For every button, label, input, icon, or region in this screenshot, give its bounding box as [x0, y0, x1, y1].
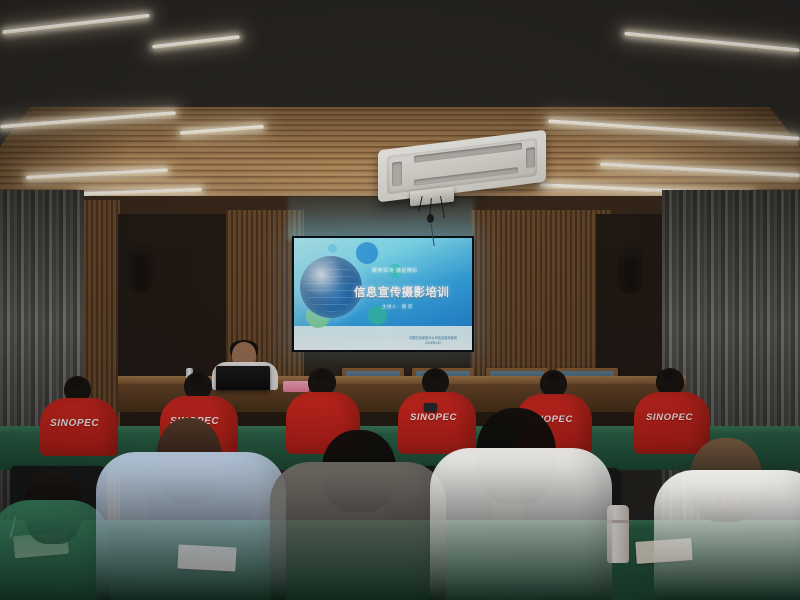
- projection-screen: 聚焦现场 捕捉精彩 信息宣传摄影培训 主讲人：摄 影 中国石化某某分公司信息宣传…: [292, 236, 474, 352]
- slide-bubble-6: [328, 244, 337, 253]
- conference-room-photo: 聚焦现场 捕捉精彩 信息宣传摄影培训 主讲人：摄 影 中国石化某某分公司信息宣传…: [0, 0, 800, 600]
- audience-torso-front-4: [430, 448, 612, 600]
- audience-torso-back-6: [634, 392, 710, 454]
- globe-icon: [300, 256, 362, 318]
- led-strip-2: [152, 35, 240, 49]
- audience-torso-front-5: [654, 470, 800, 600]
- slide-subtitle: 主讲人：摄 影: [382, 304, 462, 310]
- presentation-slide: 聚焦现场 捕捉精彩 信息宣传摄影培训 主讲人：摄 影 中国石化某某分公司信息宣传…: [294, 238, 472, 350]
- led-strip-1: [2, 14, 150, 35]
- wall-speaker-right: [621, 250, 640, 290]
- ac-vent-right: [526, 147, 535, 168]
- audience-hair-bun-back-6: [663, 370, 676, 381]
- sinopec-logo-text-6: SINOPEC: [646, 412, 693, 423]
- phone-camera: [424, 403, 437, 412]
- audience-torso-front-3: [270, 462, 446, 600]
- wall-panel-left: [118, 214, 228, 394]
- audience-torso-front-1: [0, 500, 110, 600]
- led-strip-3: [624, 32, 800, 53]
- slide-kicker-text: 聚焦现场 捕捉精彩: [372, 267, 468, 274]
- pink-folder: [283, 381, 309, 392]
- audience-hair-bun-back-5: [547, 372, 560, 383]
- sinopec-logo-text-1: SINOPEC: [50, 418, 99, 429]
- audience-hair-bun-back-3: [315, 370, 328, 381]
- slide-bubble-1: [356, 242, 378, 264]
- audience-torso-back-4: [398, 392, 476, 454]
- sinopec-logo-text-4: SINOPEC: [410, 412, 457, 423]
- slide-footer: 中国石化某某分公司信息宣传培训 2024年X月: [398, 336, 468, 346]
- audience-hair-bun-back-2: [191, 374, 204, 385]
- laptop: [216, 366, 270, 390]
- audience-hair-bun-back-1: [71, 378, 84, 389]
- globe-grid-lines: [306, 262, 356, 312]
- slide-footer-line-2: 2024年X月: [398, 341, 468, 346]
- slide-title: 信息宣传摄影培训: [354, 284, 470, 300]
- audience-hair-bun-back-4: [429, 370, 442, 381]
- ac-vent-left: [392, 161, 402, 186]
- wall-speaker-left: [131, 248, 150, 288]
- audience-torso-front-2: [96, 452, 286, 600]
